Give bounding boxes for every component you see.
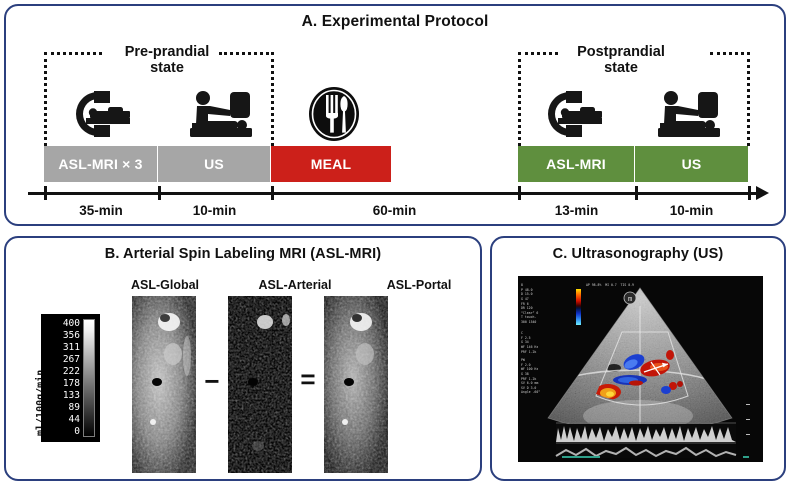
postprandial-line1: Postprandial bbox=[546, 44, 696, 60]
colorbar-tick: 178 bbox=[41, 379, 80, 389]
colorbar-tick: 267 bbox=[41, 355, 80, 365]
asl-image-label-portal: ASL-Portal bbox=[358, 278, 480, 292]
state-label-postprandial: Postprandial state bbox=[546, 44, 696, 76]
protocol-block-label: US bbox=[682, 156, 702, 172]
protocol-block-label: MEAL bbox=[311, 156, 351, 172]
timeline-axis bbox=[28, 192, 758, 195]
colorbar-tick: 89 bbox=[41, 403, 80, 413]
us-left-readout: 8 P 48.0 D 15.0 G 47 FR 6 DR 120 “Clear”… bbox=[521, 283, 538, 325]
asl-image-global bbox=[132, 296, 196, 473]
timeline-tick bbox=[635, 186, 638, 200]
ultrasound-exam-icon bbox=[654, 88, 726, 140]
colorbar-tick: 311 bbox=[41, 343, 80, 353]
colorbar-tick: 44 bbox=[41, 415, 80, 425]
us-pw-readout: PW F 2.0 WF 100 Hz G 38 PRF 1.2k SV 6.0 … bbox=[521, 358, 540, 395]
timeline-axis-arrow-icon bbox=[756, 186, 769, 200]
protocol-block-meal[interactable]: MEAL bbox=[271, 146, 391, 182]
panel-asl-mri: B. Arterial Spin Labeling MRI (ASL-MRI) … bbox=[4, 236, 482, 481]
protocol-block-label: US bbox=[204, 156, 224, 172]
timeline-tick bbox=[518, 186, 521, 200]
protocol-block-label: ASL-MRI bbox=[546, 156, 606, 172]
postprandial-line2: state bbox=[546, 60, 696, 76]
ultrasound-screen: AP 98.8% MI 0.7 TIS 0.9 8 P 48.0 D 15.0 … bbox=[518, 276, 763, 462]
colorbar-tick: 356 bbox=[41, 331, 80, 341]
panel-experimental-protocol: A. Experimental Protocol Pre-prandial st… bbox=[4, 4, 786, 226]
asl-image-label-global: ASL-Global bbox=[102, 278, 228, 292]
panel-ultrasonography: C. Ultrasonography (US) bbox=[490, 236, 786, 481]
asl-colorbar: ml/100g/min 400 356 311 267 222 178 133 … bbox=[28, 314, 100, 442]
duration-label: 13-min bbox=[518, 203, 635, 218]
duration-label: 60-min bbox=[271, 203, 518, 218]
mri-scanner-icon bbox=[536, 88, 606, 140]
colorbar-tick: 133 bbox=[41, 391, 80, 401]
colorbar-gradient bbox=[83, 319, 95, 437]
colorbar-tick: 400 bbox=[41, 319, 80, 329]
protocol-block-label: ASL-MRI × 3 bbox=[58, 156, 142, 172]
asl-image-arterial bbox=[228, 296, 292, 473]
asl-image-portal bbox=[324, 296, 388, 473]
asl-operator-minus: − bbox=[196, 368, 228, 394]
pre-prandial-line1: Pre-prandial bbox=[102, 44, 232, 60]
state-label-pre-prandial: Pre-prandial state bbox=[102, 44, 232, 76]
doppler-color-scale bbox=[576, 289, 581, 325]
asl-image-label-arterial: ASL-Arterial bbox=[232, 278, 358, 292]
ultrasound-exam-icon bbox=[186, 88, 258, 140]
protocol-block-asl-mri-post[interactable]: ASL-MRI bbox=[518, 146, 635, 182]
protocol-block-us-post[interactable]: US bbox=[635, 146, 748, 182]
timeline-tick bbox=[44, 186, 47, 200]
protocol-block-us-pre[interactable]: US bbox=[158, 146, 271, 182]
protocol-timeline: Pre-prandial state Postprandial state bbox=[6, 6, 784, 224]
panel-b-title: B. Arterial Spin Labeling MRI (ASL-MRI) bbox=[6, 246, 480, 262]
timeline-tick bbox=[158, 186, 161, 200]
colorbar-tick: 222 bbox=[41, 367, 80, 377]
mri-scanner-icon bbox=[64, 88, 134, 140]
timeline-tick bbox=[271, 186, 274, 200]
duration-label: 10-min bbox=[635, 203, 748, 218]
us-header-readout: AP 98.8% MI 0.7 TIS 0.9 bbox=[586, 283, 634, 288]
panel-c-title: C. Ultrasonography (US) bbox=[492, 246, 784, 262]
timeline-tick bbox=[748, 186, 751, 200]
us-probe-marker: m bbox=[628, 294, 632, 304]
colorbar-tick: 0 bbox=[41, 427, 80, 437]
asl-operator-equals: = bbox=[292, 366, 324, 392]
meal-icon bbox=[306, 86, 362, 142]
duration-label: 10-min bbox=[158, 203, 271, 218]
us-color-readout: C F 2.5 G 34 WF 146 Hz PRF 1.2k bbox=[521, 331, 538, 354]
duration-label: 35-min bbox=[44, 203, 158, 218]
colorbar-box: 400 356 311 267 222 178 133 89 44 0 bbox=[41, 314, 100, 442]
protocol-block-asl-mri-pre[interactable]: ASL-MRI × 3 bbox=[44, 146, 158, 182]
pre-prandial-line2: state bbox=[102, 60, 232, 76]
